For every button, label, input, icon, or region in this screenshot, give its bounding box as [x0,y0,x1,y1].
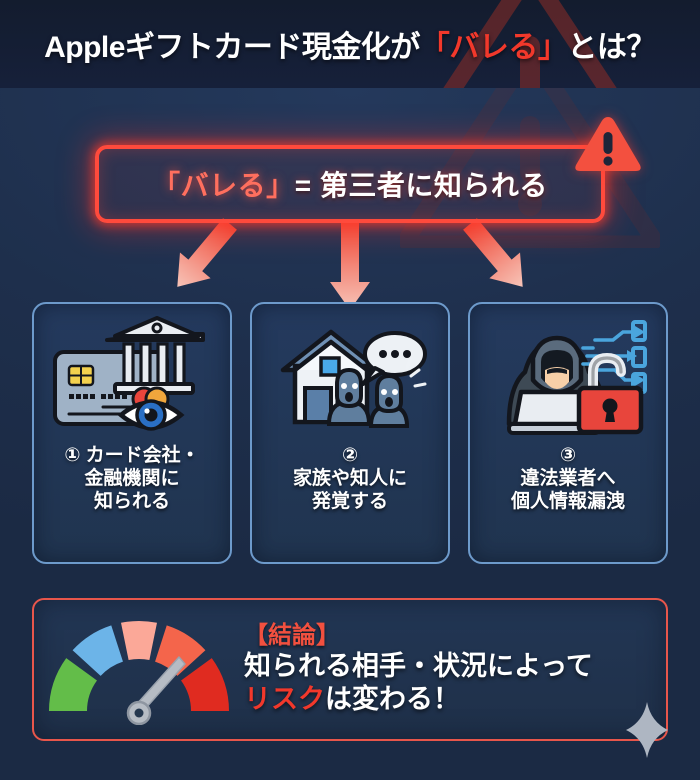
conclusion-kicker: 【結論】 [244,623,648,649]
risk-card-1-line-1: ① カード会社・ [64,444,199,467]
conclusion-text: 【結論】 知られる相手・状況によって リスクは変わる！ [244,623,666,716]
infographic-canvas: Appleギフトカード現金化が「バレる」とは？ 「バレる」= 第三者に知られる [0,0,700,780]
warning-triangle-icon [572,113,644,177]
risk-card-2-art [252,304,448,444]
risk-gauge [34,598,244,741]
risk-card-2-number: ② [342,444,358,467]
arrow-down-left-icon [162,218,245,300]
conclusion-line-2: リスクは変わる！ [244,683,648,716]
conclusion-line-1: 知られる相手・状況によって [244,650,648,683]
page-title: Appleギフトカード現金化が「バレる」とは？ [0,0,700,88]
definition-banner-rest: = 第三者に知られる [295,170,548,201]
page-title-suffix: とは？ [567,22,656,66]
conclusion-line-2-rest: は変わる！ [325,684,460,714]
definition-banner-highlight: 「バレる」 [152,170,295,201]
risk-card-1-line-2: 金融機関に [84,467,179,490]
risk-card-1[interactable]: ① カード会社・ 金融機関に 知られる [32,302,232,564]
risk-card-group: ① カード会社・ 金融機関に 知られる [0,302,700,564]
risk-card-1-art [34,304,230,444]
risk-card-1-label: ① カード会社・ 金融機関に 知られる [34,444,230,562]
definition-banner: 「バレる」= 第三者に知られる [95,145,605,223]
gauge-needle [128,657,185,724]
risk-card-2-label: ② 家族や知人に 発覚する [252,444,448,562]
risk-card-1-line-3: 知られる [94,490,170,513]
risk-card-3-line-2: 個人情報漏洩 [511,490,625,513]
risk-gauge-icon [49,615,229,725]
arrow-down-icon [330,222,370,310]
page-title-highlight: 「バレる」 [420,22,568,66]
definition-banner-text: 「バレる」= 第三者に知られる [152,164,548,204]
arrow-down-right-icon [455,218,538,300]
risk-card-3-label: ③ 違法業者へ 個人情報漏洩 [470,444,666,562]
header-band: Appleギフトカード現金化が「バレる」とは？ [0,0,700,88]
risk-card-3-line-1: 違法業者へ [520,467,615,490]
risk-card-3[interactable]: ③ 違法業者へ 個人情報漏洩 [468,302,668,564]
risk-card-2-line-2: 発覚する [312,490,388,513]
risk-card-2[interactable]: ② 家族や知人に 発覚する [250,302,450,564]
sparkle-icon [624,702,670,758]
page-title-prefix: Appleギフトカード現金化が [44,22,420,66]
conclusion-box: 【結論】 知られる相手・状況によって リスクは変わる！ [32,598,668,741]
risk-card-3-number: ③ [560,444,576,467]
risk-card-2-line-1: 家族や知人に [293,467,407,490]
data-flow-arrowheads-icon [627,326,645,386]
conclusion-line-2-highlight: リスク [244,684,325,714]
risk-card-3-art [470,304,666,444]
